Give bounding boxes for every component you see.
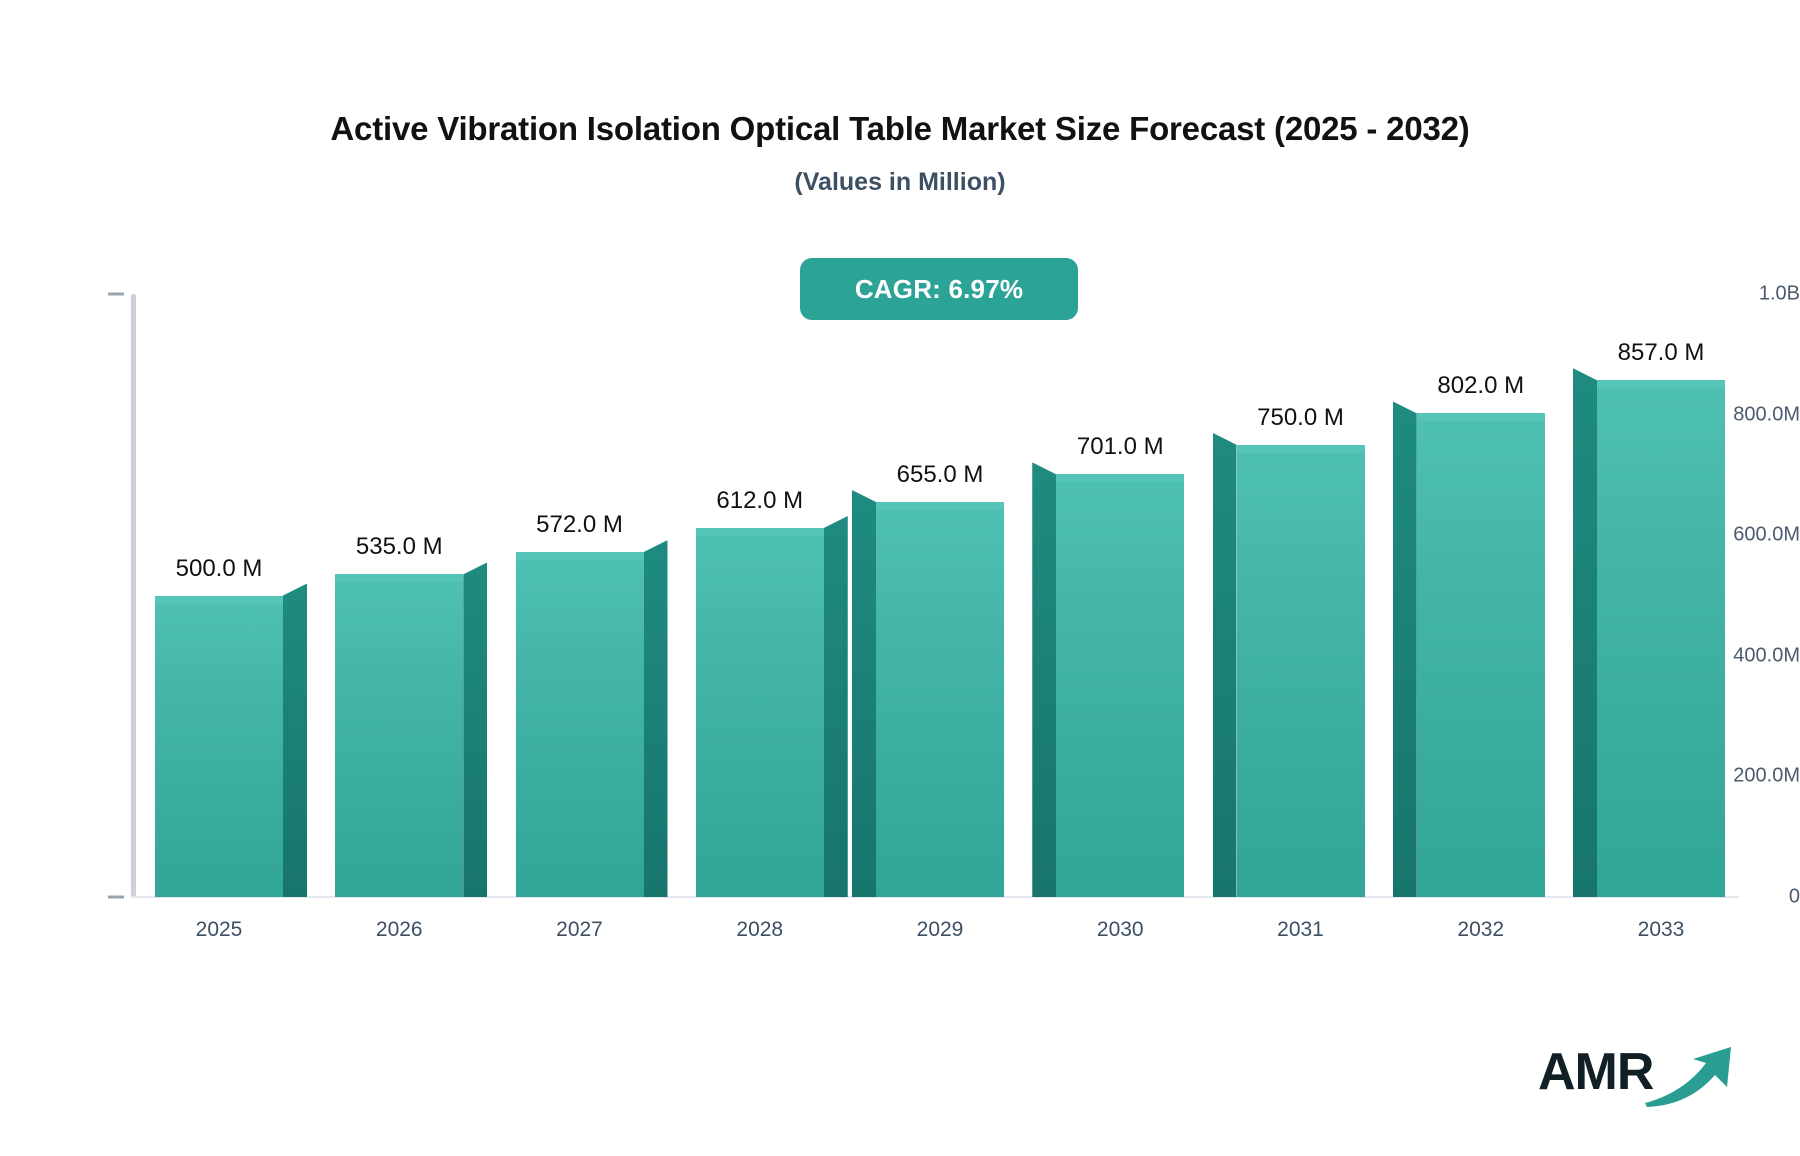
bar-side-face bbox=[644, 540, 668, 897]
amr-wordmark: AMR bbox=[1538, 1042, 1653, 1102]
bar-column[interactable]: 500.0 M bbox=[155, 596, 283, 898]
x-axis-tick-label: 2028 bbox=[736, 918, 783, 942]
bar-column[interactable]: 701.0 M bbox=[1056, 474, 1184, 897]
bar-value-label: 857.0 M bbox=[1618, 339, 1705, 367]
x-axis-tick-label: 2030 bbox=[1097, 918, 1144, 942]
bar-column[interactable]: 802.0 M bbox=[1417, 413, 1545, 897]
bar-column[interactable]: 857.0 M bbox=[1597, 380, 1725, 897]
growth-arrow-icon bbox=[1643, 1046, 1738, 1108]
bar-top-face bbox=[1417, 413, 1545, 421]
bar-top-face bbox=[1237, 445, 1365, 453]
amr-logo: AMR bbox=[1538, 1040, 1738, 1110]
bar-front-face bbox=[1237, 445, 1365, 897]
bar-top-face bbox=[876, 502, 1004, 510]
x-axis-tick-label: 2026 bbox=[376, 918, 423, 942]
bar-side-face bbox=[824, 516, 848, 897]
bar-side-face bbox=[1393, 401, 1417, 897]
bar-front-face bbox=[1417, 413, 1545, 897]
bar-value-label: 750.0 M bbox=[1257, 404, 1344, 432]
bar-side-face bbox=[1573, 368, 1597, 897]
bar-chart-plot: 0200.0M400.0M600.0M800.0M1.0B 500.0 M535… bbox=[0, 0, 1800, 1156]
x-axis-tick-label: 2025 bbox=[196, 918, 243, 942]
y-axis-tick-label: 1.0B bbox=[1710, 283, 1800, 306]
bar-value-label: 655.0 M bbox=[897, 461, 984, 489]
bar-front-face bbox=[1056, 474, 1184, 897]
y-axis-tick-mark bbox=[108, 896, 124, 899]
bar-column[interactable]: 535.0 M bbox=[335, 574, 463, 897]
bar-value-label: 612.0 M bbox=[716, 487, 803, 515]
bar-value-label: 500.0 M bbox=[176, 555, 263, 583]
x-axis-tick-label: 2029 bbox=[917, 918, 964, 942]
bar-top-face bbox=[155, 596, 283, 604]
bar-column[interactable]: 655.0 M bbox=[876, 502, 1004, 897]
bar-front-face bbox=[696, 528, 824, 897]
bar-side-face bbox=[283, 584, 307, 898]
bar-side-face bbox=[1213, 433, 1237, 897]
bar-top-face bbox=[516, 552, 644, 560]
bar-top-face bbox=[335, 574, 463, 582]
bar-top-face bbox=[696, 528, 824, 536]
bar-column[interactable]: 572.0 M bbox=[516, 552, 644, 897]
x-axis-tick-label: 2032 bbox=[1457, 918, 1504, 942]
bar-front-face bbox=[1597, 380, 1725, 897]
bar-column[interactable]: 750.0 M bbox=[1237, 445, 1365, 897]
bar-front-face bbox=[155, 596, 283, 898]
bar-column[interactable]: 612.0 M bbox=[696, 528, 824, 897]
bar-side-face bbox=[463, 562, 487, 897]
bar-side-face bbox=[1032, 462, 1056, 897]
y-axis-tick-mark bbox=[108, 293, 124, 296]
bar-value-label: 535.0 M bbox=[356, 533, 443, 561]
y-axis-line bbox=[131, 294, 136, 897]
x-axis-tick-label: 2027 bbox=[556, 918, 603, 942]
bar-front-face bbox=[516, 552, 644, 897]
bar-value-label: 572.0 M bbox=[536, 511, 623, 539]
bar-front-face bbox=[335, 574, 463, 897]
x-axis-tick-label: 2031 bbox=[1277, 918, 1324, 942]
bar-value-label: 802.0 M bbox=[1437, 372, 1524, 400]
bar-side-face bbox=[852, 490, 876, 897]
bar-top-face bbox=[1597, 380, 1725, 388]
bar-top-face bbox=[1056, 474, 1184, 482]
bar-value-label: 701.0 M bbox=[1077, 433, 1164, 461]
bar-front-face bbox=[876, 502, 1004, 897]
chart-page: Active Vibration Isolation Optical Table… bbox=[0, 0, 1800, 1156]
x-axis-tick-label: 2033 bbox=[1638, 918, 1685, 942]
